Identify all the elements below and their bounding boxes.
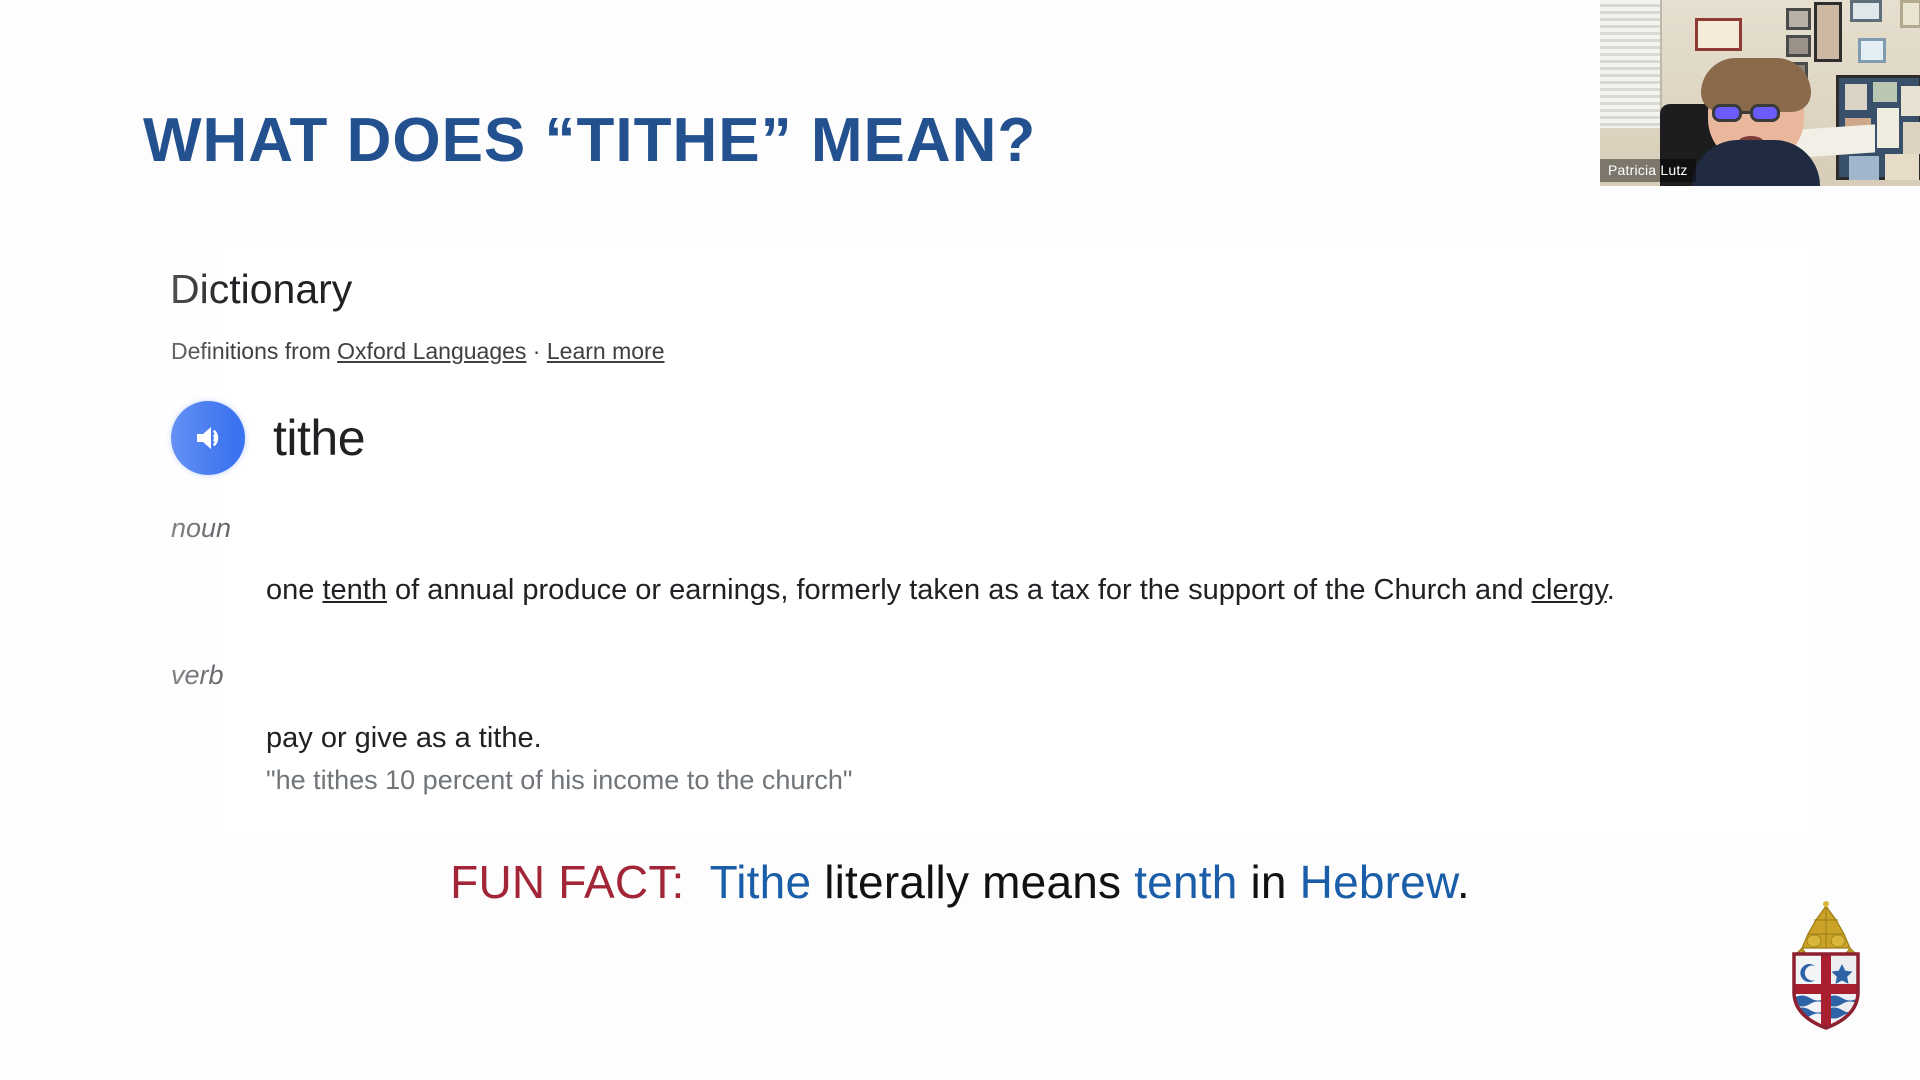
definition-link-clergy[interactable]: clergy bbox=[1532, 574, 1607, 606]
fun-fact-space bbox=[685, 856, 710, 908]
dictionary-source-line: Definitions from Oxford Languages · Lear… bbox=[171, 338, 665, 365]
page-title: WHAT DOES “TITHE” MEAN? bbox=[143, 105, 1036, 176]
wall-photo-collage bbox=[1814, 2, 1842, 62]
definition-noun-post: . bbox=[1607, 574, 1615, 606]
definition-verb-text: pay or give as a tithe. bbox=[266, 722, 542, 754]
fun-fact-word-tenth: tenth bbox=[1134, 856, 1237, 908]
participant-name-label: Patricia Lutz bbox=[1600, 159, 1696, 182]
definition-link-tenth[interactable]: tenth bbox=[322, 574, 387, 606]
window-blinds bbox=[1600, 0, 1662, 128]
webcam-video-tile[interactable]: Patricia Lutz bbox=[1600, 0, 1920, 186]
wall-photo bbox=[1786, 35, 1811, 57]
fun-fact-word-tithe: Tithe bbox=[710, 856, 812, 908]
headword-text: tithe bbox=[273, 409, 365, 467]
eyeglasses-right-lens bbox=[1750, 104, 1780, 122]
definition-noun-pre: one bbox=[266, 574, 322, 606]
definition-noun: one tenth of annual produce or earnings,… bbox=[266, 570, 1736, 611]
oxford-languages-link[interactable]: Oxford Languages bbox=[337, 338, 526, 364]
eyeglasses-left-lens bbox=[1712, 104, 1742, 122]
diocesan-coat-of-arms-icon bbox=[1768, 900, 1884, 1030]
fun-fact-text-2: in bbox=[1238, 856, 1300, 908]
part-of-speech-noun: noun bbox=[171, 513, 231, 544]
wall-sign bbox=[1858, 38, 1886, 63]
source-prefix-text: Definitions from bbox=[171, 338, 337, 364]
fun-fact-label: FUN FACT: bbox=[450, 856, 684, 908]
part-of-speech-verb: verb bbox=[171, 660, 224, 691]
dictionary-heading: Dictionary bbox=[170, 266, 352, 313]
fun-fact-line: FUN FACT: Tithe literally means tenth in… bbox=[0, 855, 1920, 909]
headword-row: tithe bbox=[171, 401, 365, 475]
wall-art bbox=[1900, 0, 1920, 28]
fun-fact-text-3: . bbox=[1457, 856, 1470, 908]
dictionary-card: Dictionary Definitions from Oxford Langu… bbox=[133, 248, 1808, 833]
learn-more-link[interactable]: Learn more bbox=[547, 338, 665, 364]
definition-verb: pay or give as a tithe. "he tithes 10 pe… bbox=[266, 718, 1736, 800]
wall-photo bbox=[1786, 8, 1811, 30]
definition-noun-mid: of annual produce or earnings, formerly … bbox=[387, 574, 1532, 606]
source-separator: · bbox=[526, 338, 546, 364]
definition-verb-example: "he tithes 10 percent of his income to t… bbox=[266, 761, 1736, 799]
wall-certificate bbox=[1695, 18, 1742, 51]
presentation-slide: WHAT DOES “TITHE” MEAN? Dictionary Defin… bbox=[0, 0, 1920, 1080]
speaker-icon[interactable] bbox=[171, 401, 245, 475]
wall-sign bbox=[1850, 0, 1882, 22]
fun-fact-text-1: literally means bbox=[811, 856, 1134, 908]
eyeglasses-bridge bbox=[1742, 111, 1750, 114]
fun-fact-word-hebrew: Hebrew bbox=[1300, 856, 1457, 908]
